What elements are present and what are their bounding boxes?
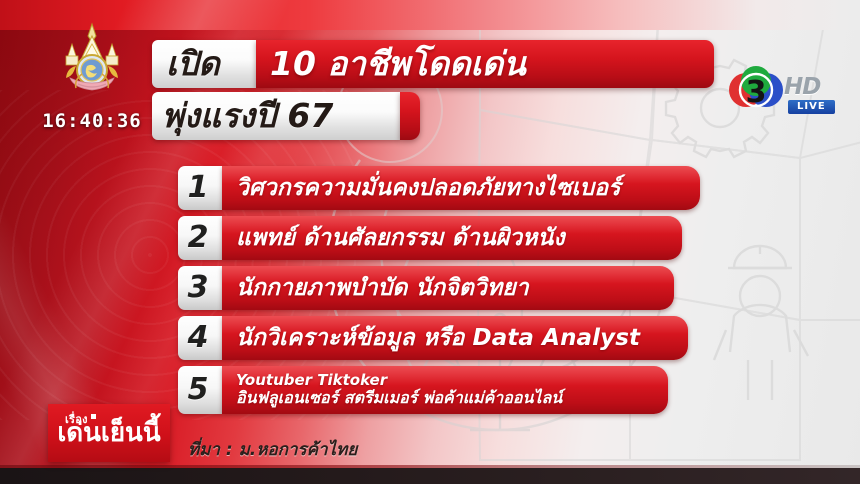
rank-bar: นักวิเคราะห์ข้อมูล หรือ Data Analyst [222, 316, 688, 360]
rank-label: Youtuber Tiktoker อินฟลูเอนเซอร์ สตรีมเม… [236, 366, 562, 414]
broadcast-screen: 16:40:36 3 HD LIVE เปิด 10 อาชีพโดดเด่น … [0, 0, 860, 484]
rank-number: 5 [178, 366, 222, 414]
headline-row-2: พุ่งแรงปี 67 [152, 92, 420, 140]
program-logo-name: เด่นเย็นนี้ [56, 420, 162, 447]
hd-label: HD [784, 74, 820, 100]
headline-main: 10 อาชีพโดดเด่น [270, 40, 526, 88]
rank-bar: แพทย์ ด้านศัลยกรรม ด้านผิวหนัง [222, 216, 682, 260]
rank-badge: 5 [178, 366, 222, 414]
headline-row-1: เปิด 10 อาชีพโดดเด่น [152, 40, 714, 88]
rank-badge: 4 [178, 316, 222, 360]
rank-label-line-2: อินฟลูเอนเซอร์ สตรีมเมอร์ พ่อค้าแม่ค้าออ… [236, 389, 562, 408]
channel3-mark-icon: 3 [726, 64, 788, 116]
rank-number: 1 [178, 166, 222, 210]
bottom-dark-strip [0, 468, 860, 484]
rank-label-line-1: Youtuber Tiktoker [236, 372, 562, 390]
rank-number: 3 [178, 266, 222, 310]
program-logo: เรื่อง เด่นเย็นนี้ [48, 404, 170, 462]
royal-emblem-icon [52, 22, 132, 104]
svg-text:3: 3 [746, 75, 767, 110]
rank-number: 2 [178, 216, 222, 260]
headline-block: เปิด 10 อาชีพโดดเด่น พุ่งแรงปี 67 [152, 40, 714, 140]
rank-label: แพทย์ ด้านศัลยกรรม ด้านผิวหนัง [236, 216, 565, 260]
rank-bar: นักกายภาพบำบัด นักจิตวิทยา [222, 266, 674, 310]
headline-prefix: เปิด [166, 40, 220, 88]
headline-row2-red-cap [400, 92, 420, 140]
rank-number: 4 [178, 316, 222, 360]
rank-label: นักกายภาพบำบัด นักจิตวิทยา [236, 266, 529, 310]
live-badge: LIVE [788, 100, 835, 114]
on-screen-clock: 16:40:36 [36, 110, 148, 132]
rank-label: นักวิเคราะห์ข้อมูล หรือ Data Analyst [236, 316, 640, 360]
rank-bar: Youtuber Tiktoker อินฟลูเอนเซอร์ สตรีมเม… [222, 366, 668, 414]
rank-bar: วิศวกรความมั่นคงปลอดภัยทางไซเบอร์ [222, 166, 700, 210]
rank-badge: 1 [178, 166, 222, 210]
channel-logo: 3 HD LIVE [726, 64, 836, 126]
rank-badge: 3 [178, 266, 222, 310]
headline-subline: พุ่งแรงปี 67 [162, 92, 333, 140]
rank-badge: 2 [178, 216, 222, 260]
rank-label: วิศวกรความมั่นคงปลอดภัยทางไซเบอร์ [236, 166, 621, 210]
source-credit: ที่มา : ม.หอการค้าไทย [188, 436, 357, 463]
